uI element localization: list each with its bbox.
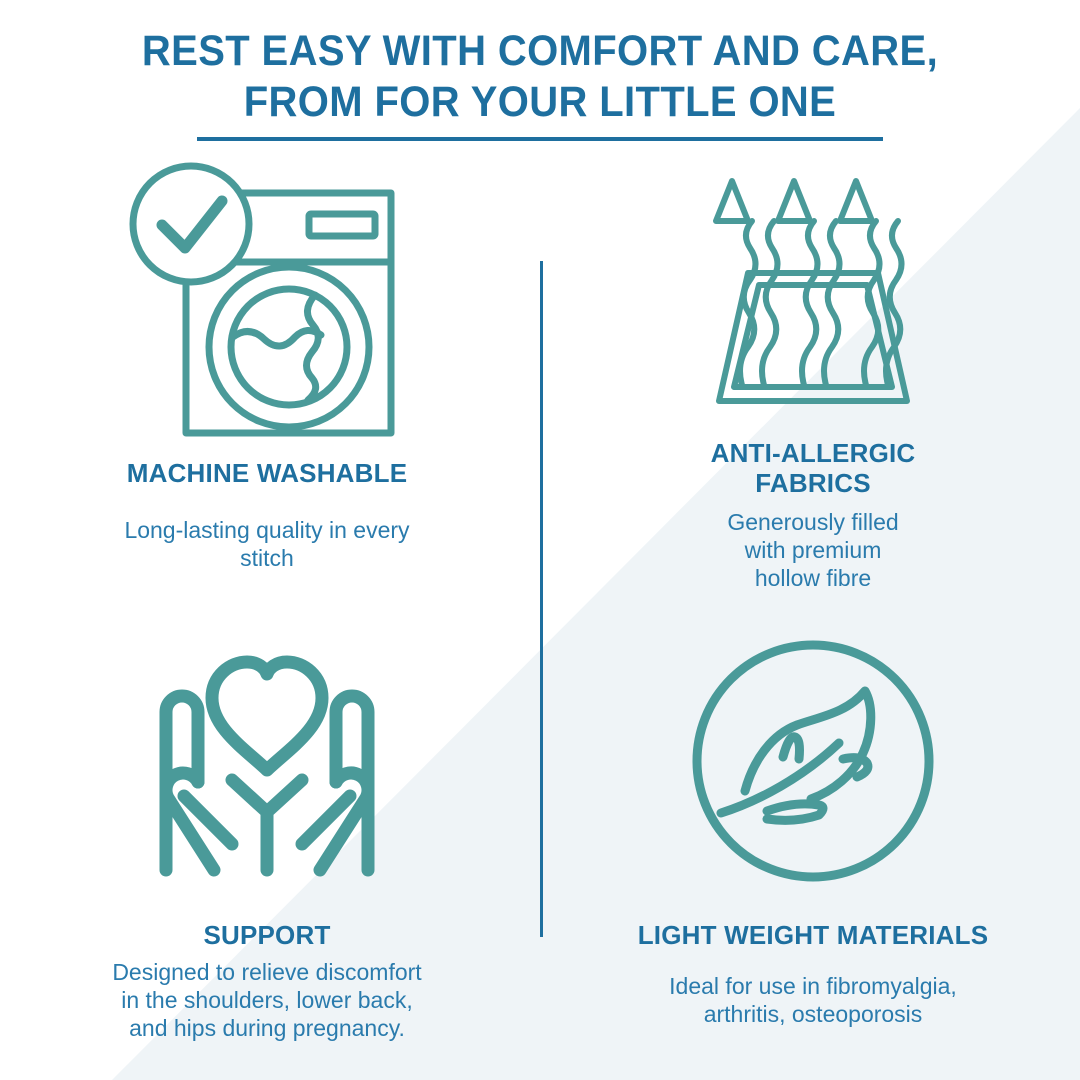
page-title: REST EASY WITH COMFORT AND CARE, FROM FO… [0,26,1080,141]
feature-title: ANTI-ALLERGIC FABRICS [711,438,916,498]
feature-card-light-weight-materials: LIGHT WEIGHT MATERIALS Ideal for use in … [578,616,1048,1028]
title-underline-rule [197,137,883,141]
page-title-line-2: FROM FOR YOUR LITTLE ONE [38,77,1042,128]
page-title-line-1: REST EASY WITH COMFORT AND CARE, [38,26,1042,77]
feature-card-anti-allergic-fabrics: ANTI-ALLERGIC FABRICS Generously filled … [578,156,1048,592]
feature-description: Generously filled with premium hollow fi… [727,508,898,592]
column-divider [540,261,543,937]
infographic-page: REST EASY WITH COMFORT AND CARE, FROM FO… [0,0,1080,1080]
feature-title: MACHINE WASHABLE [127,458,408,488]
breathable-fabric-airflow-icon [578,156,1048,436]
feature-description: Long-lasting quality in every stitch [124,516,409,572]
feature-card-support: SUPPORT Designed to relieve discomfort i… [32,616,502,1042]
hands-holding-heart-icon [32,616,502,906]
feature-description: Designed to relieve discomfort in the sh… [112,958,421,1042]
feature-description: Ideal for use in fibromyalgia, arthritis… [669,972,957,1028]
feather-in-circle-icon [578,616,1048,906]
washing-machine-check-icon [32,156,502,446]
feature-card-machine-washable: MACHINE WASHABLE Long-lasting quality in… [32,156,502,572]
feature-title: LIGHT WEIGHT MATERIALS [638,920,989,950]
feature-title: SUPPORT [203,920,330,950]
